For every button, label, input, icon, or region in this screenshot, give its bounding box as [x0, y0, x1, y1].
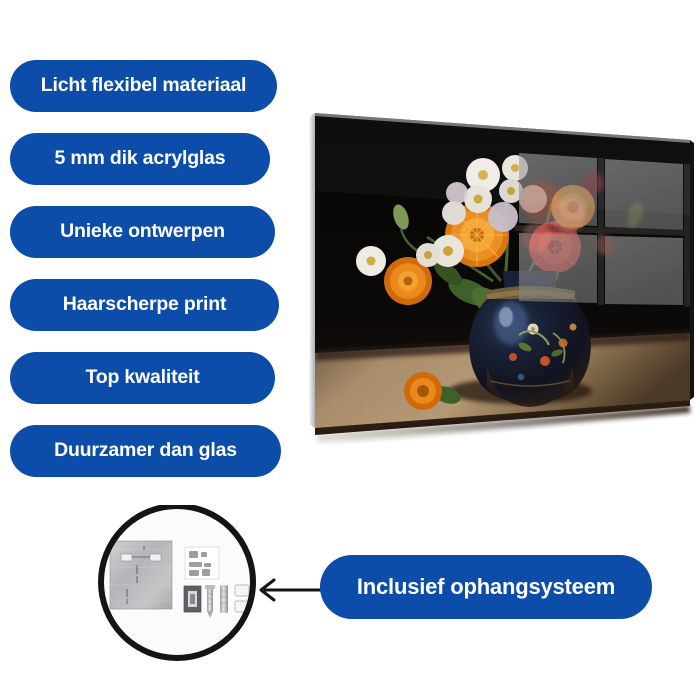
panel-left-edge [309, 113, 315, 428]
feature-pill-duurzamer-dan-glas[interactable]: Duurzamer dan glas [10, 425, 281, 477]
product-feature-sheet: Licht flexibel materiaal 5 mm dik acrylg… [0, 0, 700, 700]
feature-pill-top-kwaliteit[interactable]: Top kwaliteit [10, 352, 275, 404]
panel-artwork [305, 95, 695, 445]
feature-pill-label: Duurzamer dan glas [54, 441, 237, 461]
feature-pill-label: Unieke ontwerpen [60, 222, 225, 242]
feature-pill-list: Licht flexibel materiaal 5 mm dik acrylg… [10, 60, 285, 498]
feature-pill-haarscherpe-print[interactable]: Haarscherpe print [10, 279, 279, 331]
hanging-system-detail-circle [92, 505, 272, 667]
feature-pill-label: Top kwaliteit [85, 368, 199, 388]
hanging-system-callout-label: Inclusief ophangsysteem [357, 576, 615, 598]
panel-right-edge [690, 140, 694, 400]
hanging-system-photo [92, 505, 272, 667]
feature-pill-label: Haarscherpe print [63, 295, 227, 315]
hanging-system-callout-pill[interactable]: Inclusief ophangsysteem [320, 555, 652, 619]
instruction-sheet [185, 547, 219, 579]
wall-anchor [184, 586, 201, 612]
wall-plug [220, 585, 228, 613]
panel-face [305, 95, 695, 445]
mounting-plate [110, 541, 172, 609]
feature-pill-5-mm-dik-acrylglas[interactable]: 5 mm dik acrylglas [10, 133, 270, 185]
acrylglas-print-panel [305, 95, 695, 445]
feature-pill-label: Licht flexibel materiaal [41, 76, 246, 96]
feature-pill-licht-flexibel-materiaal[interactable]: Licht flexibel materiaal [10, 60, 277, 112]
feature-pill-unieke-ontwerpen[interactable]: Unieke ontwerpen [10, 206, 275, 258]
feature-pill-label: 5 mm dik acrylglas [55, 149, 226, 169]
